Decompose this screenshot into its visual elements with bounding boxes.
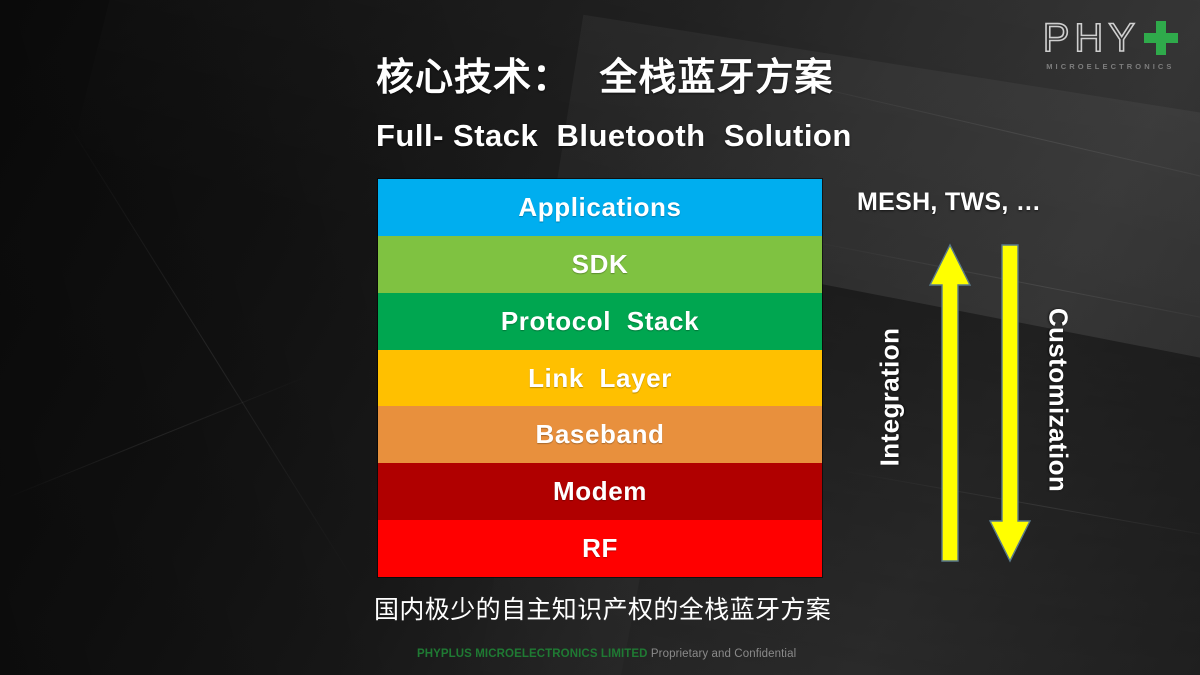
slide-root: PHY MICROELECTRONICS 核心技术： 全栈蓝牙方案 Full- … [0,0,1200,675]
logo-tagline: MICROELECTRONICS [1043,63,1178,71]
bluetooth-stack-diagram: Applications SDK Protocol Stack Link Lay… [377,178,823,578]
stack-caption-cn: 国内极少的自主知识产权的全栈蓝牙方案 [374,590,831,626]
mesh-tws-label: MESH, TWS, … [857,186,1062,218]
footer-confidentiality-note: Proprietary and Confidential [648,648,797,660]
integration-label: Integration [875,328,906,467]
logo-wordmark: PHY [1043,18,1140,58]
stack-layer-link-layer: Link Layer [378,350,822,407]
stack-layer-sdk: SDK [378,236,822,293]
footer-company-name: PHYPLUS MICROELECTRONICS LIMITED [417,648,648,660]
customization-down-arrow-icon [988,243,1032,568]
stack-layer-protocol-stack: Protocol Stack [378,293,822,350]
plus-icon [1144,21,1178,55]
stack-layer-applications: Applications [378,179,822,236]
page-title-cn: 核心技术： 全栈蓝牙方案 [376,46,833,101]
stack-layer-baseband: Baseband [378,406,822,463]
integration-up-arrow-icon [928,243,972,568]
customization-label: Customization [1043,308,1074,492]
logo-mark: PHY [1043,18,1178,58]
company-logo: PHY MICROELECTRONICS [1043,18,1178,71]
page-title-en: Full- Stack Bluetooth Solution [376,118,852,154]
stack-layer-rf: RF [378,520,822,577]
slide-footer: PHYPLUS MICROELECTRONICS LIMITED Proprie… [0,636,1200,672]
stack-layer-modem: Modem [378,463,822,520]
